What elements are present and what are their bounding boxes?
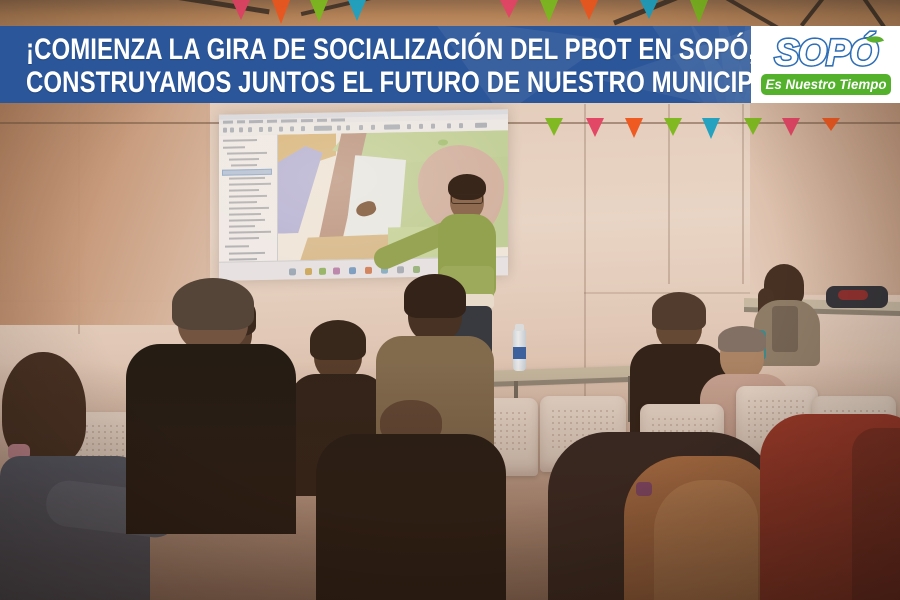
wall-seam [584, 104, 586, 404]
pennant [782, 118, 800, 136]
layer-row[interactable] [229, 252, 265, 255]
attendee-red-coat-shade [852, 428, 900, 600]
pennant [540, 0, 558, 22]
layer-row[interactable] [229, 225, 255, 227]
pennant-bunting-top [0, 0, 900, 1]
banner-headline: ¡COMIENZA LA GIRA DE SOCIALIZACIÓN DEL P… [26, 33, 578, 99]
ceiling-band [0, 0, 900, 28]
layer-row[interactable] [229, 158, 259, 161]
gis-layer-panel[interactable] [219, 135, 278, 263]
social-media-graphic: ¡COMIENZA LA GIRA DE SOCIALIZACIÓN DEL P… [0, 0, 900, 600]
layer-row[interactable] [229, 201, 257, 204]
layer-row[interactable] [229, 189, 259, 192]
logo-container: SOPÓ SOPÓ Es Nuestro Tiempo [751, 26, 900, 103]
sopo-logo: SOPÓ SOPÓ Es Nuestro Tiempo [751, 26, 900, 103]
layer-row[interactable] [229, 177, 265, 180]
pennant [310, 0, 328, 22]
pennant [348, 0, 366, 21]
layer-row[interactable] [229, 183, 271, 186]
pennant [500, 0, 518, 18]
bottle-label [513, 347, 526, 359]
pennant [580, 0, 598, 20]
banner-headline-line2: CONSTRUYAMOS JUNTOS EL FUTURO DE NUESTRO… [26, 66, 578, 99]
layer-row[interactable] [229, 207, 269, 210]
layer-row[interactable] [231, 164, 257, 166]
layer-row[interactable] [229, 195, 267, 198]
layer-row[interactable] [229, 219, 265, 222]
layer-row[interactable] [227, 152, 267, 155]
attendee-hair [404, 274, 466, 318]
seated-attendee-foreground [760, 414, 900, 600]
pennant [272, 0, 290, 24]
layer-row[interactable] [229, 237, 259, 240]
pennant [232, 0, 250, 20]
attendee-hair [172, 278, 254, 330]
seated-attendee-foreground [316, 400, 506, 600]
coat-zip-detail [636, 482, 652, 496]
layer-row[interactable] [229, 231, 271, 234]
seated-attendee-foreground [126, 288, 296, 538]
sopo-wordmark-group: SOPÓ SOPÓ [763, 31, 889, 75]
pennant [625, 118, 643, 138]
pennant [664, 118, 682, 136]
bag-accent [838, 290, 868, 300]
attendee-body [316, 434, 506, 600]
logo-tagline: Es Nuestro Tiempo [764, 74, 888, 95]
attendee-hair [652, 292, 706, 330]
layer-row[interactable] [225, 245, 249, 247]
pennant [822, 118, 840, 131]
attendee-hair [718, 326, 766, 352]
seated-attendee-foreground [548, 432, 778, 600]
bottle-cap [515, 324, 524, 331]
pennant [586, 118, 604, 137]
layer-row[interactable] [229, 213, 261, 216]
pennant [744, 118, 762, 135]
pennant [545, 118, 563, 136]
attendee-fur-highlight [654, 480, 758, 600]
eyeglasses-icon [451, 194, 483, 204]
pennant [640, 0, 658, 19]
layer-row[interactable] [223, 139, 257, 142]
attendee-dark-jacket [126, 344, 296, 534]
layer-row-selected[interactable] [222, 169, 272, 176]
logo-tagline-pill: Es Nuestro Tiempo [761, 74, 891, 95]
pennant [690, 0, 708, 23]
attendee-hair [310, 320, 366, 360]
layer-row[interactable] [223, 146, 245, 148]
pennant [702, 118, 720, 139]
banner-headline-line1: ¡COMIENZA LA GIRA DE SOCIALIZACIÓN DEL P… [26, 33, 578, 66]
